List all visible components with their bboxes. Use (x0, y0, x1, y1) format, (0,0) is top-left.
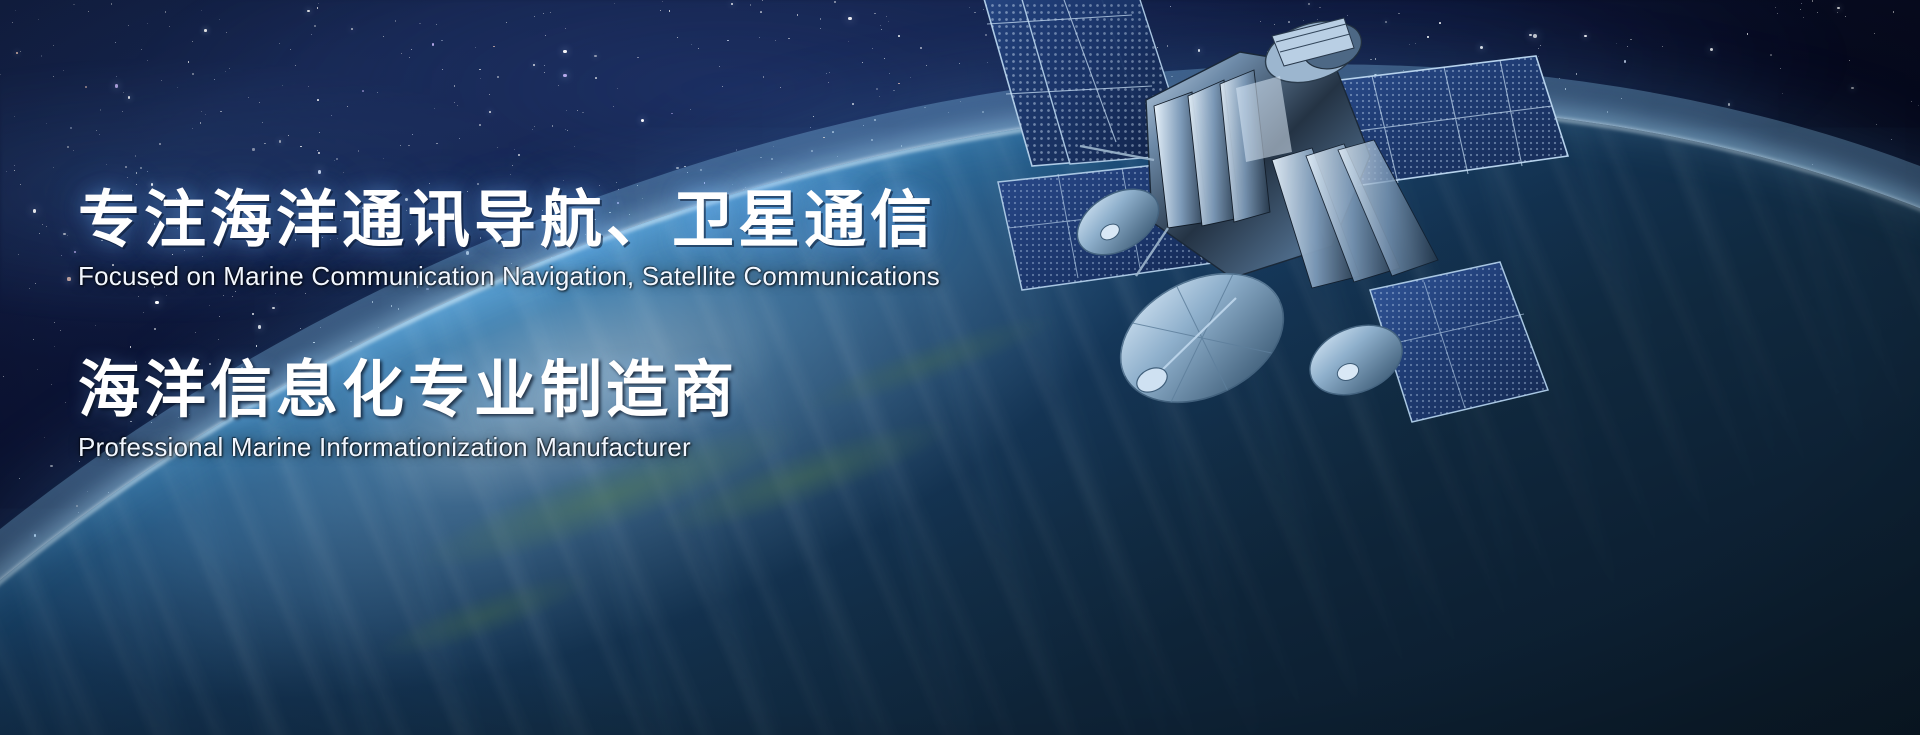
headline-2-cn: 海洋信息化专业制造商 (78, 356, 1078, 425)
hero-banner: 专注海洋通讯导航、卫星通信 Focused on Marine Communic… (0, 0, 1920, 735)
headline-block-1: 专注海洋通讯导航、卫星通信 Focused on Marine Communic… (78, 186, 1078, 292)
hero-copy: 专注海洋通讯导航、卫星通信 Focused on Marine Communic… (78, 186, 1078, 463)
headline-2-en: Professional Marine Informationization M… (78, 432, 1078, 463)
headline-block-2: 海洋信息化专业制造商 Professional Marine Informati… (78, 356, 1078, 462)
headline-1-en: Focused on Marine Communication Navigati… (78, 261, 1078, 292)
headline-1-cn: 专注海洋通讯导航、卫星通信 (78, 186, 1078, 255)
